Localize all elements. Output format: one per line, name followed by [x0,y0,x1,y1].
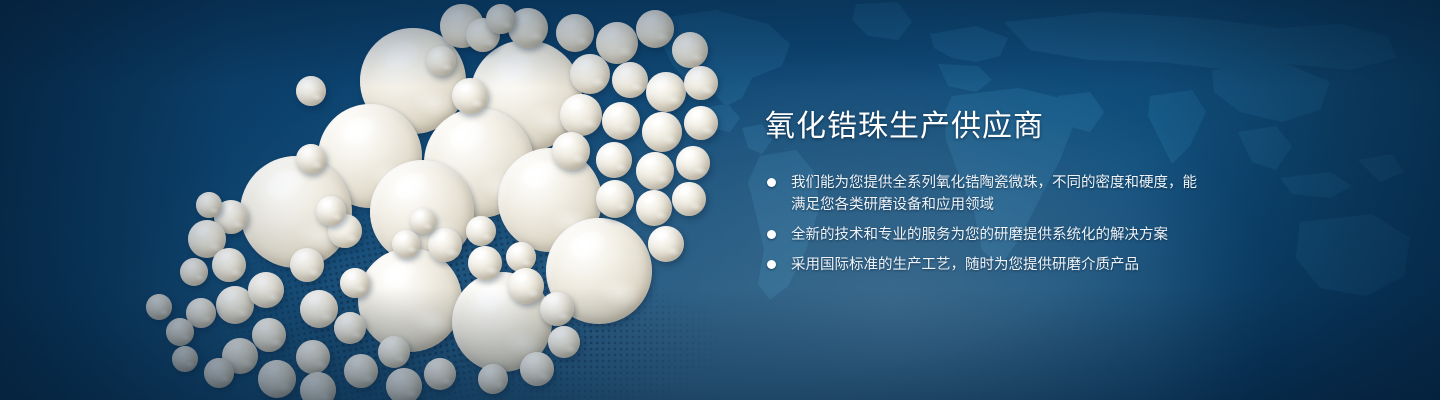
bullet-dot-icon [767,260,776,269]
list-item: 我们能为您提供全系列氧化锆陶瓷微珠，不同的密度和硬度，能满足您各类研磨设备和应用… [765,172,1365,216]
hero-banner: 氧化锆珠生产供应商 我们能为您提供全系列氧化锆陶瓷微珠，不同的密度和硬度，能满足… [0,0,1440,400]
banner-headline: 氧化锆珠生产供应商 [765,108,1365,146]
banner-bullet-list: 我们能为您提供全系列氧化锆陶瓷微珠，不同的密度和硬度，能满足您各类研磨设备和应用… [765,172,1365,276]
bullet-dot-icon [767,230,776,239]
bullet-dot-icon [767,178,776,187]
bullet-text: 我们能为您提供全系列氧化锆陶瓷微珠，不同的密度和硬度，能满足您各类研磨设备和应用… [791,172,1211,216]
list-item: 采用国际标准的生产工艺，随时为您提供研磨介质产品 [765,254,1365,276]
list-item: 全新的技术和专业的服务为您的研磨提供系统化的解决方案 [765,224,1365,246]
banner-content: 氧化锆珠生产供应商 我们能为您提供全系列氧化锆陶瓷微珠，不同的密度和硬度，能满足… [765,108,1365,284]
bullet-text: 全新的技术和专业的服务为您的研磨提供系统化的解决方案 [791,224,1168,246]
bullet-text: 采用国际标准的生产工艺，随时为您提供研磨介质产品 [791,254,1139,276]
